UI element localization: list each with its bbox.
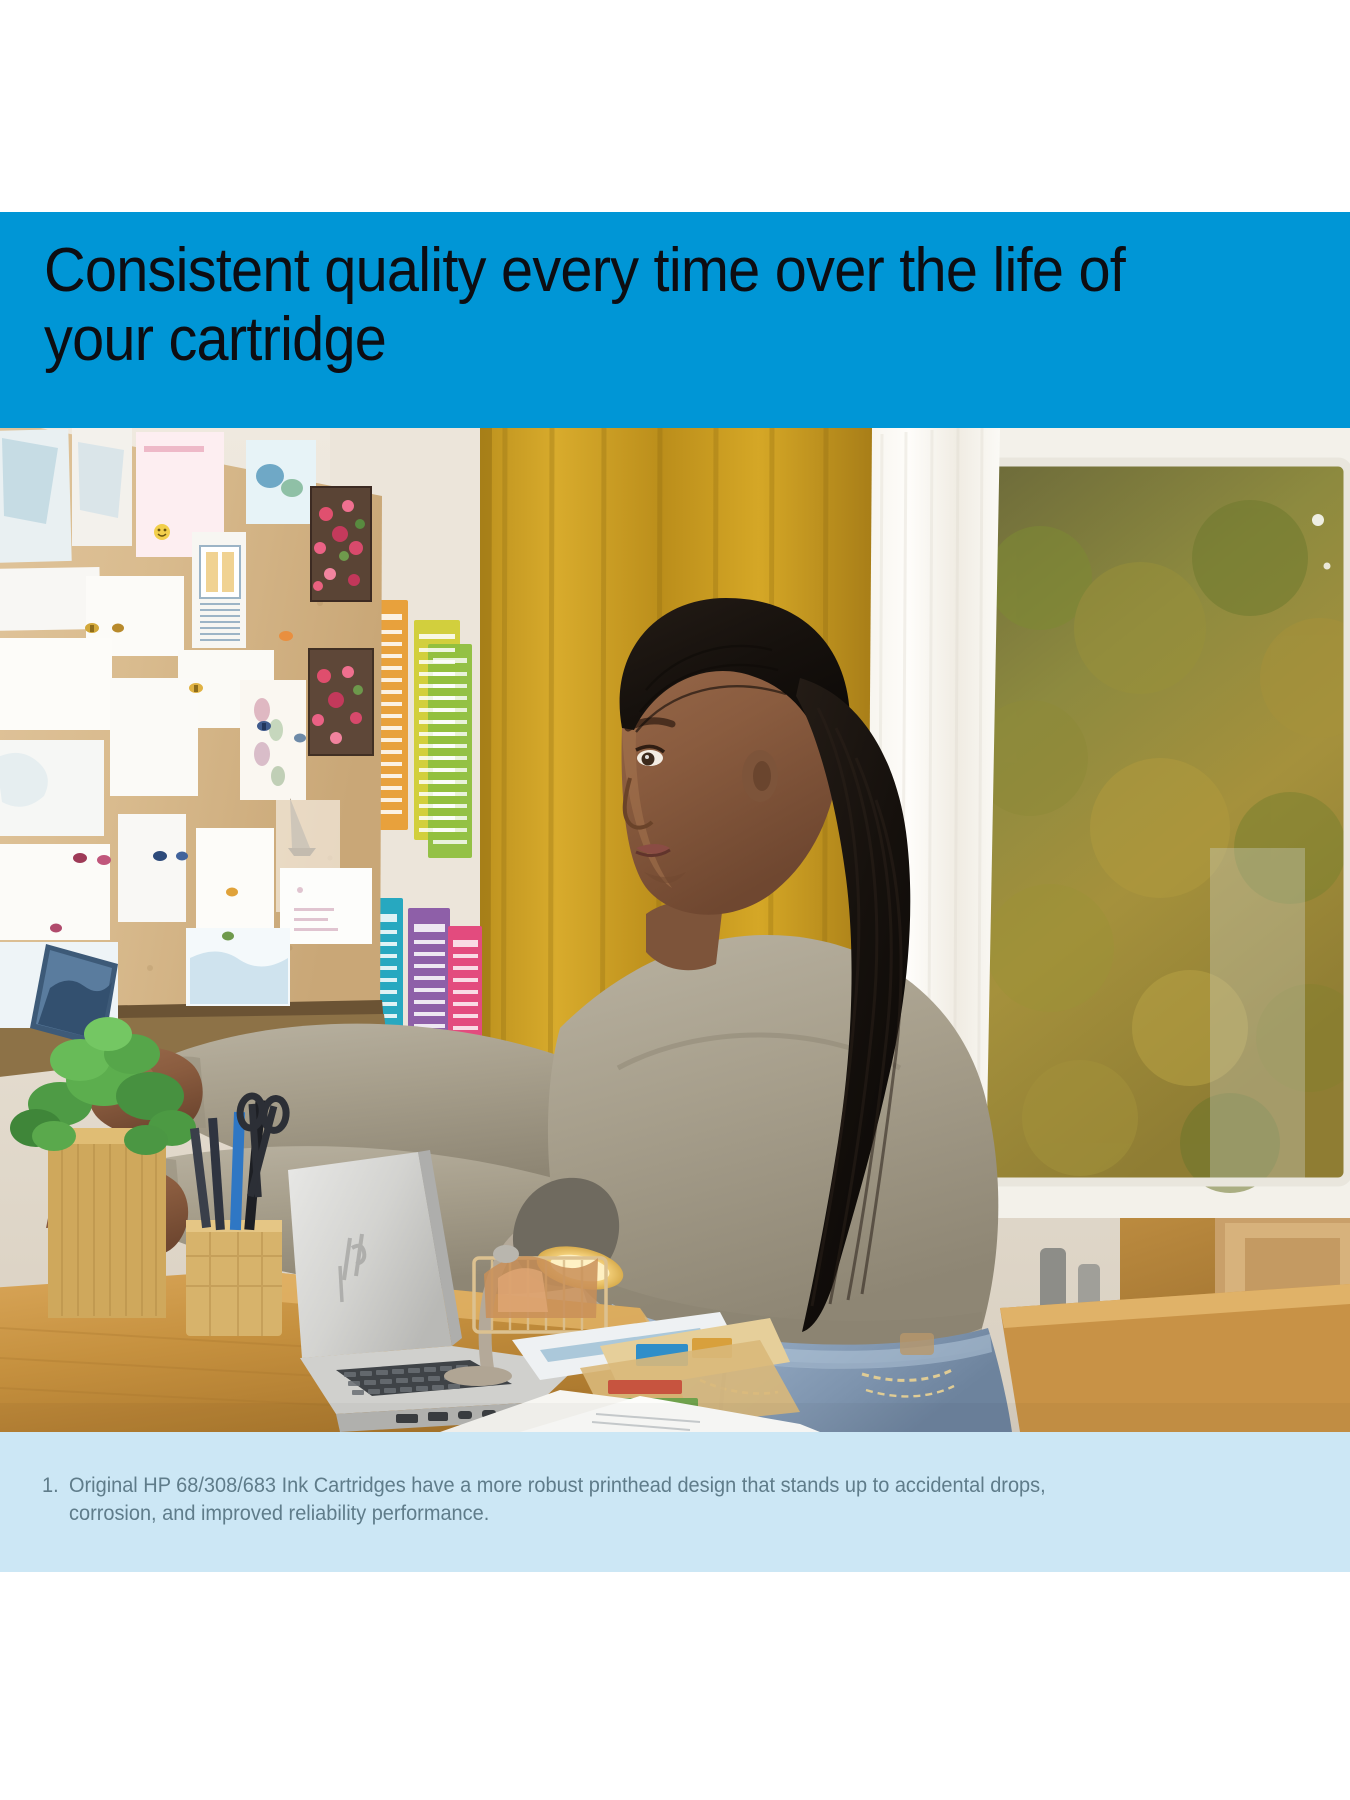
iris — [642, 753, 655, 766]
hero-photo-illustration — [0, 428, 1350, 1432]
flower-photo — [312, 488, 370, 600]
ear-inner — [753, 761, 771, 791]
window-reflection — [1210, 848, 1305, 1178]
eye-glint — [645, 755, 649, 759]
footnote-row: 1. Original HP 68/308/683 Ink Cartridges… — [42, 1472, 1304, 1529]
blinds-lines — [200, 604, 240, 640]
page-title: Consistent quality every time over the l… — [44, 236, 1218, 375]
hero-photo — [0, 428, 1350, 1432]
glass-highlight — [1312, 514, 1324, 526]
footnote-text: Original HP 68/308/683 Ink Cartridges ha… — [69, 1472, 1114, 1529]
print-red — [608, 1380, 682, 1394]
hp-marketing-page: Consistent quality every time over the l… — [0, 0, 1350, 1800]
footnote-band: 1. Original HP 68/308/683 Ink Cartridges… — [0, 1432, 1350, 1572]
jeans-patch — [900, 1333, 934, 1355]
basket-jar — [493, 1245, 519, 1263]
photo-bottom-vignette — [0, 1403, 1350, 1432]
footnote-marker: 1. — [42, 1472, 59, 1500]
lamp-base — [444, 1366, 512, 1386]
bottom-white-gutter — [0, 1572, 1350, 1800]
glass-highlight-2 — [1324, 563, 1331, 570]
headline-banner: Consistent quality every time over the l… — [0, 212, 1350, 428]
top-white-gutter — [0, 0, 1350, 212]
pinned-items — [0, 428, 374, 1028]
